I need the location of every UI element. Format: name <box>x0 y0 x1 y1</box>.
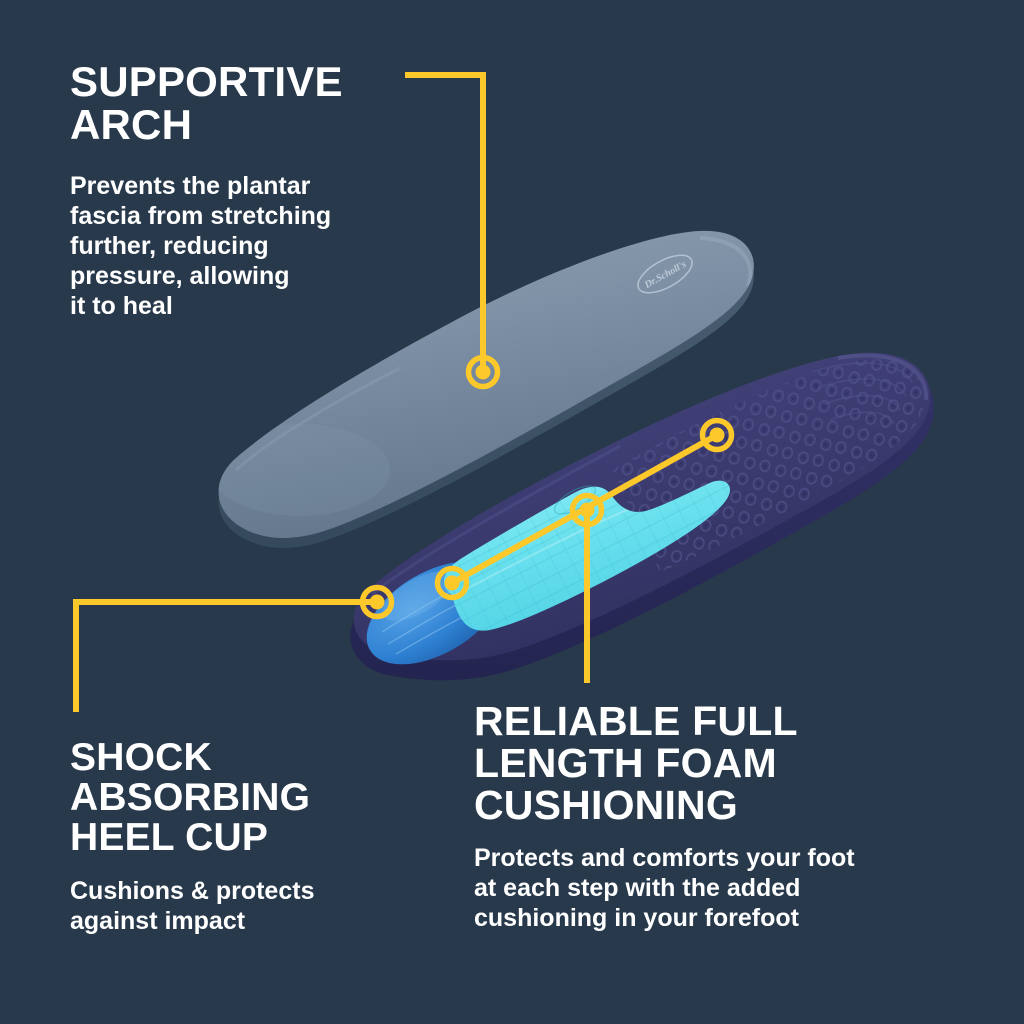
callout-supportive-arch-body: Prevents the plantar fascia from stretch… <box>70 171 430 321</box>
callout-foam-heading: RELIABLE FULL LENGTH FOAM CUSHIONING <box>474 700 974 827</box>
callout-heel-cup-heading: SHOCK ABSORBING HEEL CUP <box>70 738 410 858</box>
callout-supportive-arch-heading: SUPPORTIVE ARCH <box>70 60 430 147</box>
callout-reliable-full-length-foam-cushioning: RELIABLE FULL LENGTH FOAM CUSHIONING Pro… <box>474 700 974 933</box>
callout-supportive-arch: SUPPORTIVE ARCH Prevents the plantar fas… <box>70 60 430 321</box>
connector-heel-cup <box>76 602 377 712</box>
infographic-canvas: Dr.Scholl's <box>0 0 1024 1024</box>
callout-shock-absorbing-heel-cup: SHOCK ABSORBING HEEL CUP Cushions & prot… <box>70 738 410 936</box>
callout-heel-cup-body: Cushions & protects against impact <box>70 876 410 936</box>
callout-foam-body: Protects and comforts your foot at each … <box>474 843 974 933</box>
